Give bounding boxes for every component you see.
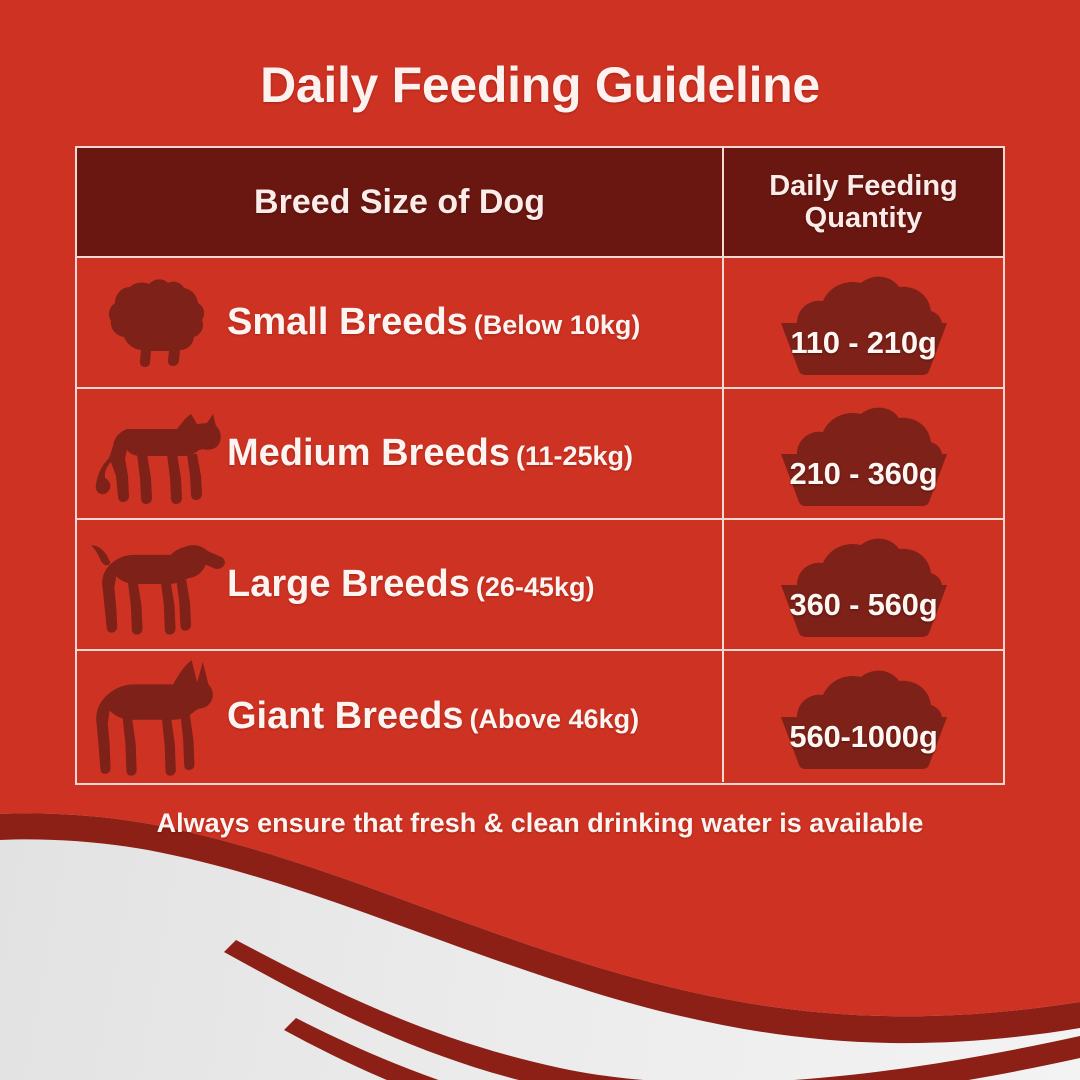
quantity-value: 560-1000g	[739, 719, 989, 755]
quantity-value: 110 - 210g	[739, 325, 989, 361]
header-label-breed: Breed Size of Dog	[254, 183, 545, 221]
breed-weight: (Below 10kg)	[474, 310, 641, 341]
header-label-quantity: Daily Feeding Quantity	[769, 170, 958, 235]
breed-weight: (26-45kg)	[476, 572, 595, 603]
breed-label-small: Small Breeds (Below 10kg)	[227, 301, 640, 344]
header-label-quantity-line2: Quantity	[805, 202, 923, 234]
quantity-cell-medium: 210 - 360g	[724, 389, 1003, 518]
food-bowl-icon: 360 - 560g	[739, 529, 989, 641]
quantity-cell-giant: 560-1000g	[724, 651, 1003, 782]
breed-cell-giant: Giant Breeds (Above 46kg)	[77, 651, 724, 782]
header-cell-breed: Breed Size of Dog	[77, 148, 724, 256]
food-bowl-icon: 210 - 360g	[739, 398, 989, 510]
breed-name: Large Breeds	[227, 563, 470, 606]
quantity-value: 210 - 360g	[739, 456, 989, 492]
breed-label-medium: Medium Breeds (11-25kg)	[227, 432, 633, 475]
table-row: Small Breeds (Below 10kg) 110 - 210g	[77, 258, 1003, 389]
table-row: Giant Breeds (Above 46kg) 560-1000g	[77, 651, 1003, 782]
giant-dog-icon	[77, 651, 227, 782]
quantity-cell-small: 110 - 210g	[724, 258, 1003, 387]
breed-cell-large: Large Breeds (26-45kg)	[77, 520, 724, 649]
breed-weight: (Above 46kg)	[470, 704, 640, 735]
page-title: Daily Feeding Guideline	[0, 56, 1080, 114]
quantity-cell-large: 360 - 560g	[724, 520, 1003, 649]
feeding-guideline-infographic: Daily Feeding Guideline Breed Size of Do…	[0, 0, 1080, 1080]
food-bowl-icon: 560-1000g	[739, 661, 989, 773]
feeding-guideline-table: Breed Size of Dog Daily Feeding Quantity	[75, 146, 1005, 785]
header-label-quantity-line1: Daily Feeding	[769, 170, 958, 202]
table-row: Medium Breeds (11-25kg) 210 - 360g	[77, 389, 1003, 520]
quantity-value: 360 - 560g	[739, 587, 989, 623]
large-dog-icon	[77, 519, 227, 650]
breed-label-large: Large Breeds (26-45kg)	[227, 563, 594, 606]
breed-name: Giant Breeds	[227, 695, 464, 738]
breed-name: Small Breeds	[227, 301, 468, 344]
breed-name: Medium Breeds	[227, 432, 510, 475]
header-cell-quantity: Daily Feeding Quantity	[724, 148, 1003, 256]
table-header-row: Breed Size of Dog Daily Feeding Quantity	[77, 148, 1003, 258]
breed-label-giant: Giant Breeds (Above 46kg)	[227, 695, 639, 738]
food-bowl-icon: 110 - 210g	[739, 267, 989, 379]
medium-dog-icon	[77, 388, 227, 519]
breed-cell-medium: Medium Breeds (11-25kg)	[77, 389, 724, 518]
footer-note: Always ensure that fresh & clean drinkin…	[0, 808, 1080, 839]
breed-cell-small: Small Breeds (Below 10kg)	[77, 258, 724, 387]
table-row: Large Breeds (26-45kg) 360 - 560g	[77, 520, 1003, 651]
breed-weight: (11-25kg)	[516, 441, 633, 472]
small-dog-icon	[77, 257, 227, 388]
